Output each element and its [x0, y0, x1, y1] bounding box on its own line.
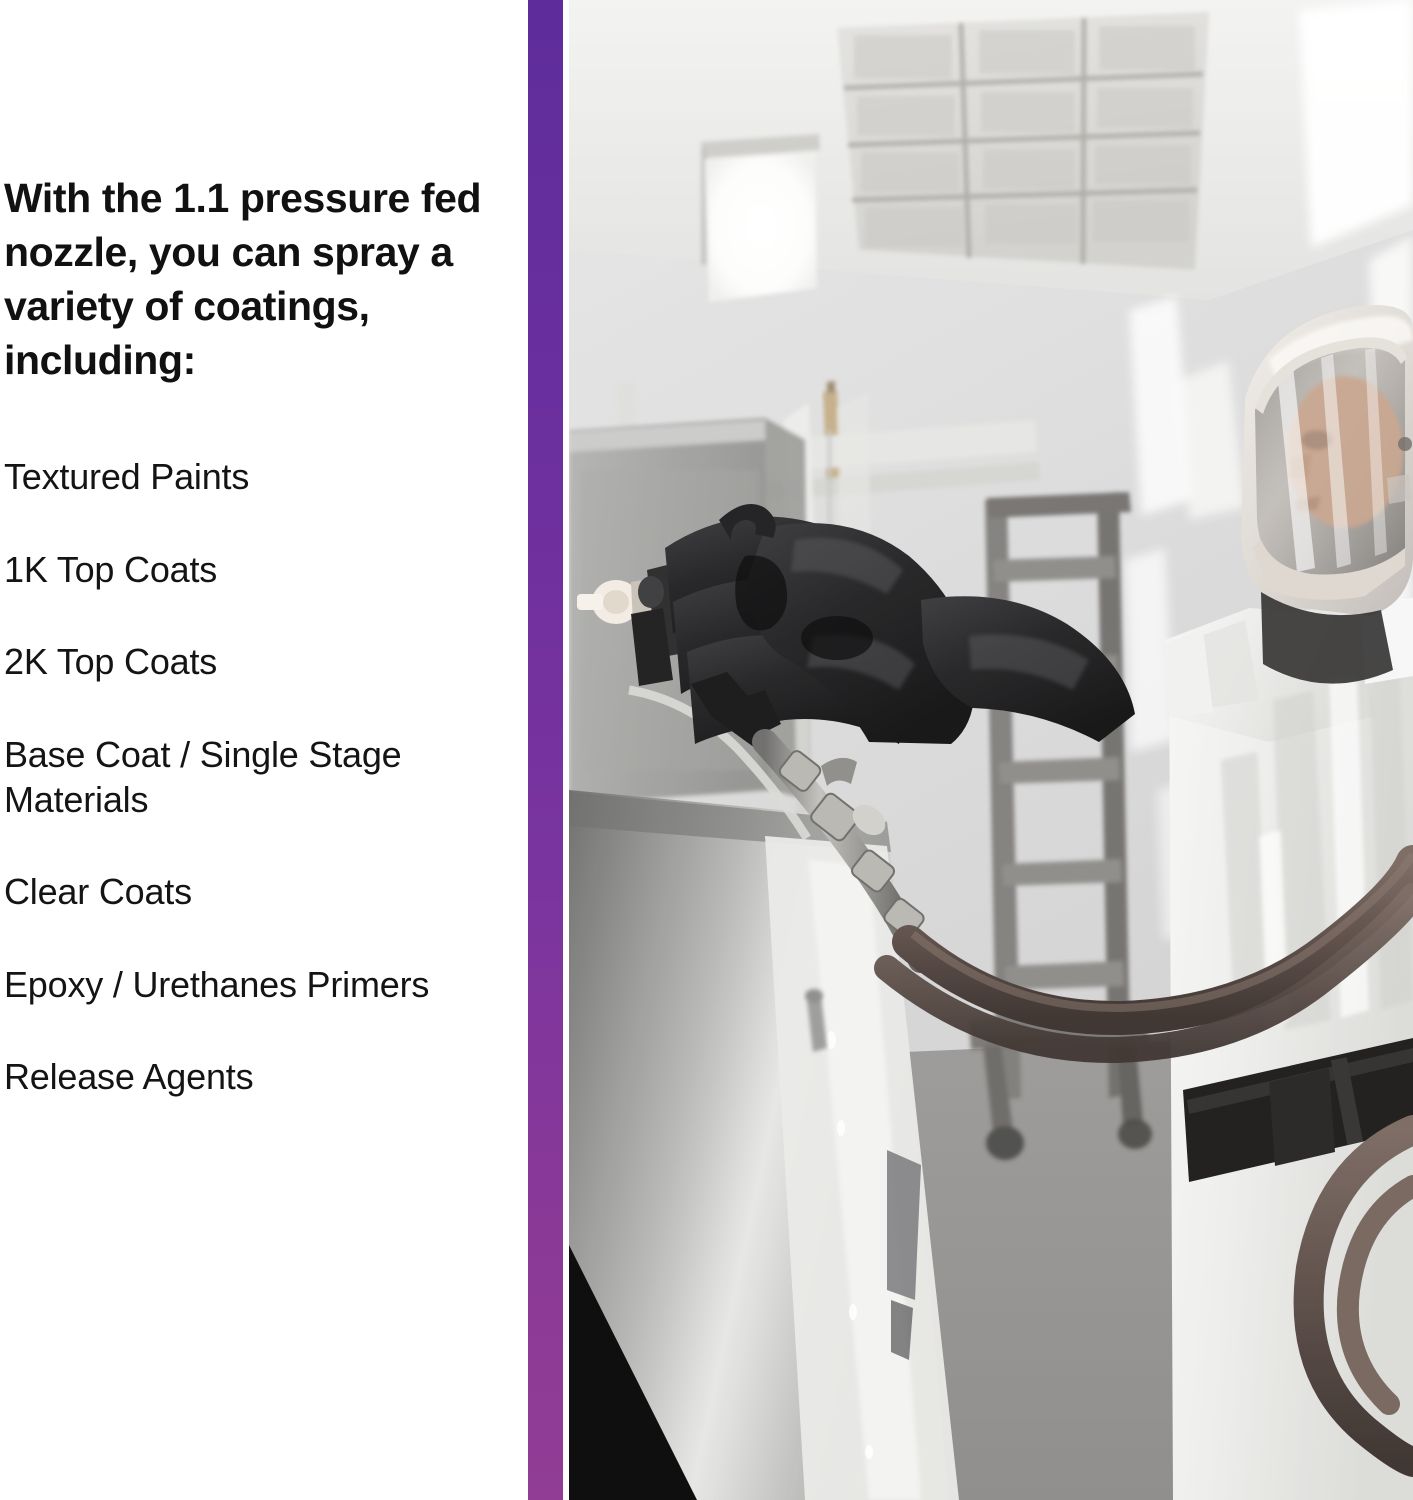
product-info-graphic: With the 1.1 pressure fed nozzle, you ca… [0, 0, 1413, 1500]
text-panel: With the 1.1 pressure fed nozzle, you ca… [0, 0, 528, 1500]
list-item: Clear Coats [4, 870, 474, 915]
list-item: 1K Top Coats [4, 548, 474, 593]
page-title: With the 1.1 pressure fed nozzle, you ca… [4, 171, 484, 387]
spray-booth-photo [569, 0, 1413, 1500]
list-item: Release Agents [4, 1055, 474, 1100]
list-item: 2K Top Coats [4, 640, 474, 685]
list-item: Epoxy / Urethanes Primers [4, 963, 474, 1008]
purple-gradient-divider [528, 0, 563, 1500]
coatings-list: Textured Paints 1K Top Coats 2K Top Coat… [4, 455, 474, 1100]
list-item: Textured Paints [4, 455, 474, 500]
list-item: Base Coat / Single Stage Materials [4, 733, 474, 822]
